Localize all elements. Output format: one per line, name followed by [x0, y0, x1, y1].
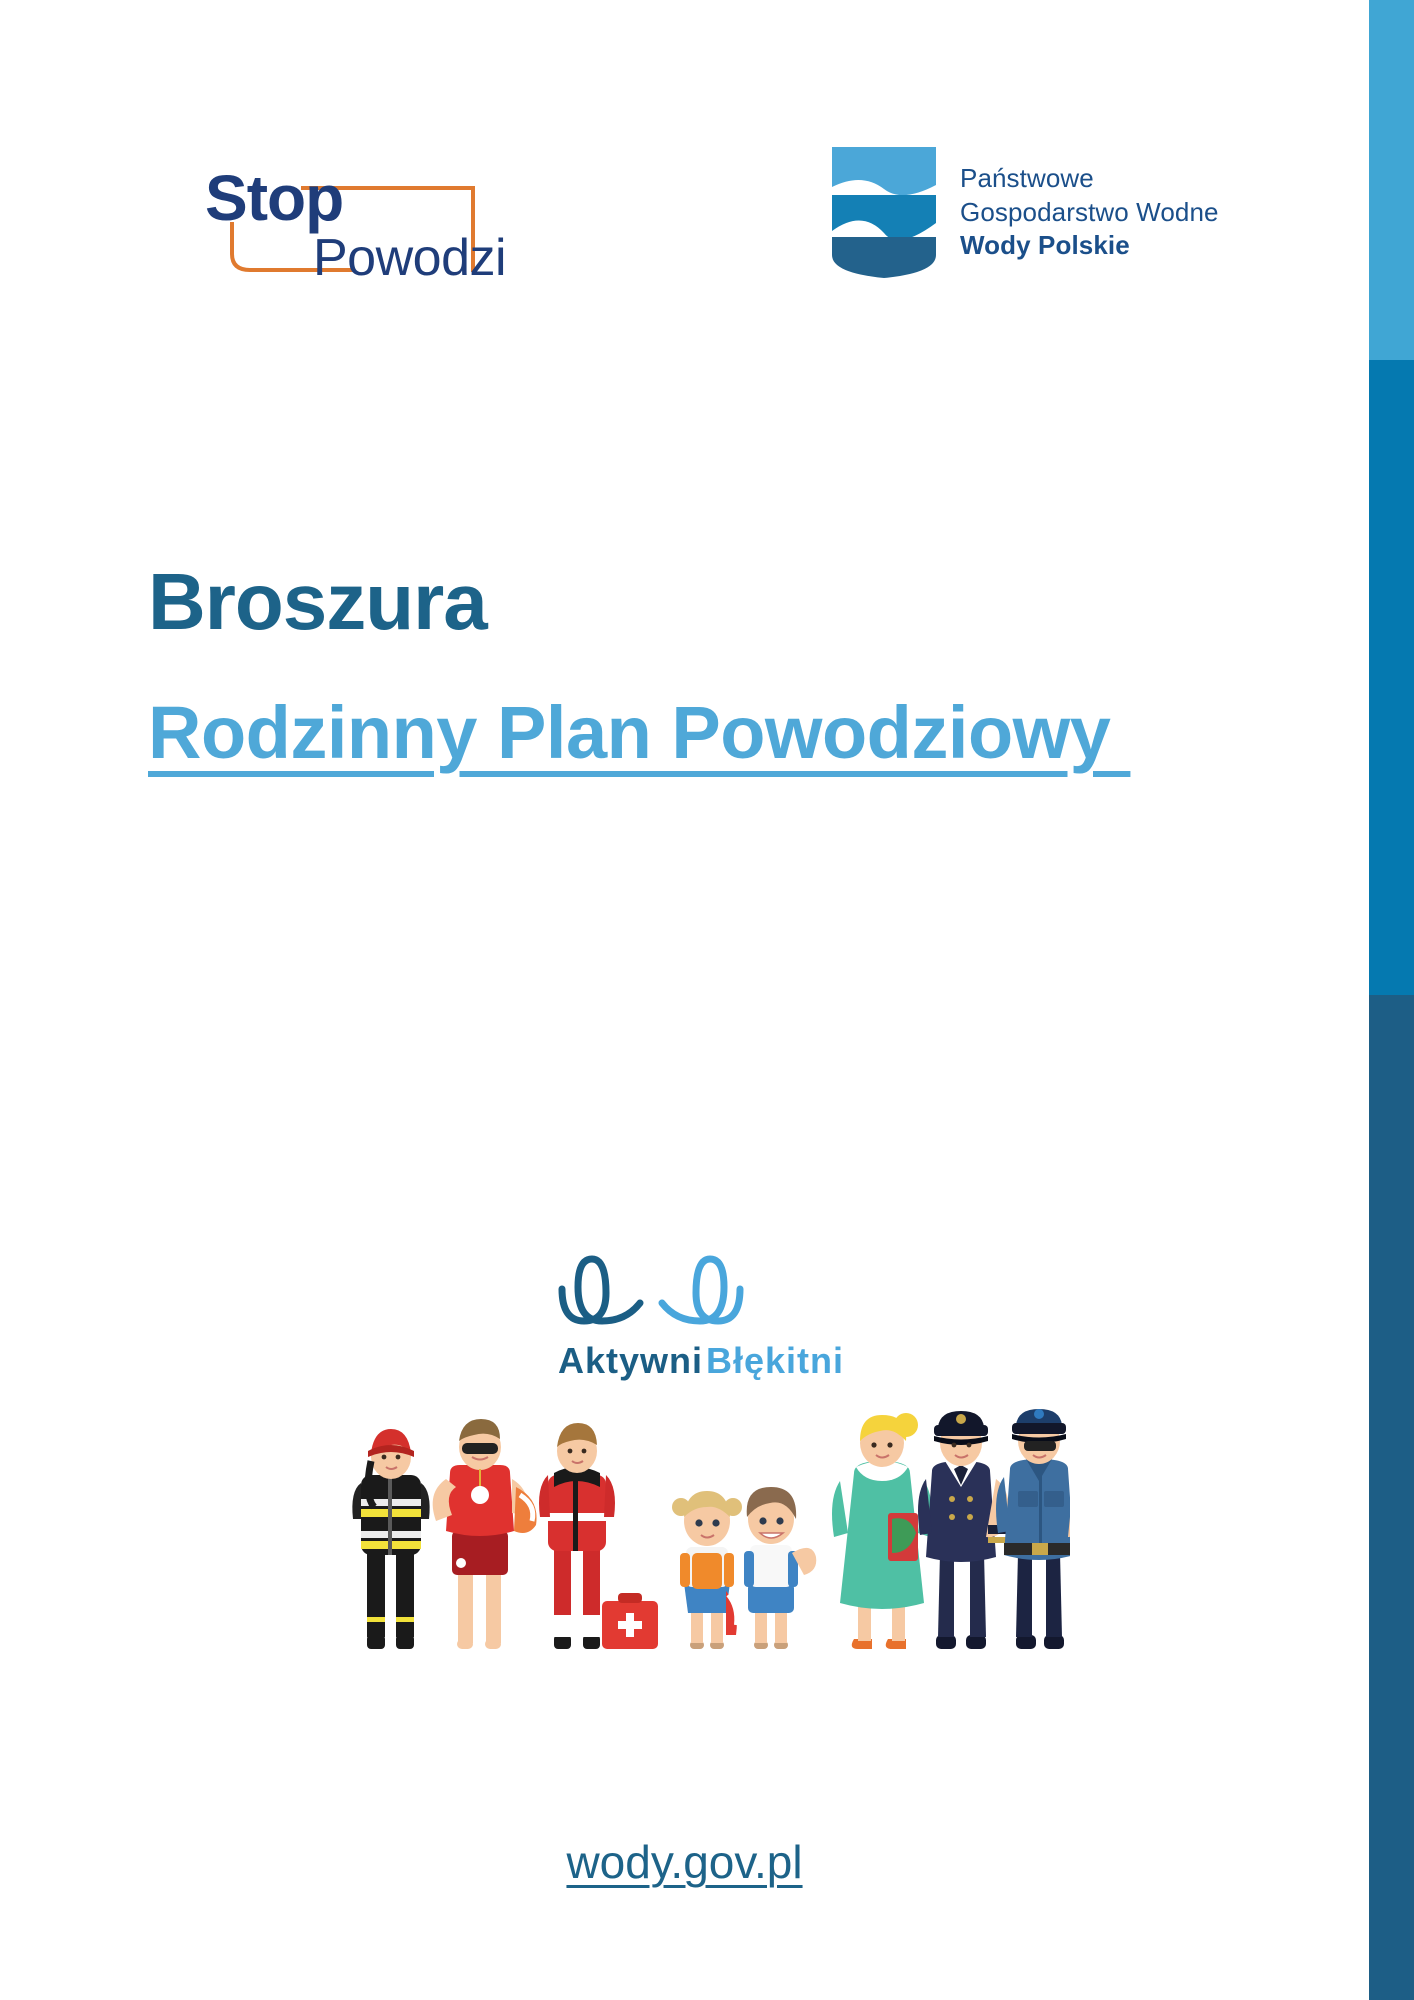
blekitni-word: Błękitni [706, 1340, 844, 1381]
wody-polskie-line-3: Wody Polskie [960, 229, 1219, 263]
brochure-cover-page: Stop Powodzi Państwowe Gospodarstwo Wodn… [0, 0, 1414, 2000]
page-subtitle[interactable]: Rodzinny Plan Powodziowy [148, 644, 1298, 772]
figure-girl-child [672, 1491, 742, 1649]
footer: wody.gov.pl [0, 1835, 1369, 1889]
figure-firefighter [352, 1429, 429, 1649]
people-illustration [340, 1395, 1070, 1675]
edge-bar-dark-blue [1369, 995, 1414, 2000]
title-block: Broszura Rodzinny Plan Powodziowy [148, 560, 1298, 772]
svg-text:Powodzi: Powodzi [313, 229, 506, 280]
emergency-services-and-family-icon [340, 1395, 1070, 1675]
figure-officer [918, 1411, 1010, 1649]
wody-polskie-shield-icon [828, 145, 940, 280]
figure-teacher [832, 1413, 932, 1649]
edge-bar-medium-blue [1369, 360, 1414, 995]
figure-police-officer [996, 1409, 1070, 1649]
website-link[interactable]: wody.gov.pl [566, 1836, 802, 1888]
aktywni-blekitni-icon: Aktywni Błękitni [540, 1225, 870, 1390]
figure-paramedic [539, 1423, 658, 1649]
stop-powodzi-logo: Stop Powodzi [205, 150, 535, 280]
edge-color-bars [1369, 0, 1414, 2000]
stop-powodzi-icon: Stop Powodzi [205, 150, 535, 280]
illustration-block: Aktywni Błękitni [340, 1225, 1070, 1675]
wody-polskie-logo: Państwowe Gospodarstwo Wodne Wody Polski… [828, 145, 1278, 280]
figure-lifeguard [433, 1419, 537, 1649]
svg-text:Stop: Stop [205, 162, 343, 234]
wody-polskie-wordmark: Państwowe Gospodarstwo Wodne Wody Polski… [960, 162, 1219, 263]
wody-polskie-line-1: Państwowe [960, 162, 1219, 196]
header-logos: Stop Powodzi Państwowe Gospodarstwo Wodn… [0, 0, 1369, 330]
wody-polskie-line-2: Gospodarstwo Wodne [960, 196, 1219, 230]
edge-bar-light-blue [1369, 0, 1414, 360]
aktywni-blekitni-logo: Aktywni Błękitni [340, 1225, 1070, 1390]
aktywni-word: Aktywni [558, 1340, 703, 1381]
figure-boy-child [744, 1487, 816, 1649]
page-title: Broszura [148, 560, 1298, 644]
